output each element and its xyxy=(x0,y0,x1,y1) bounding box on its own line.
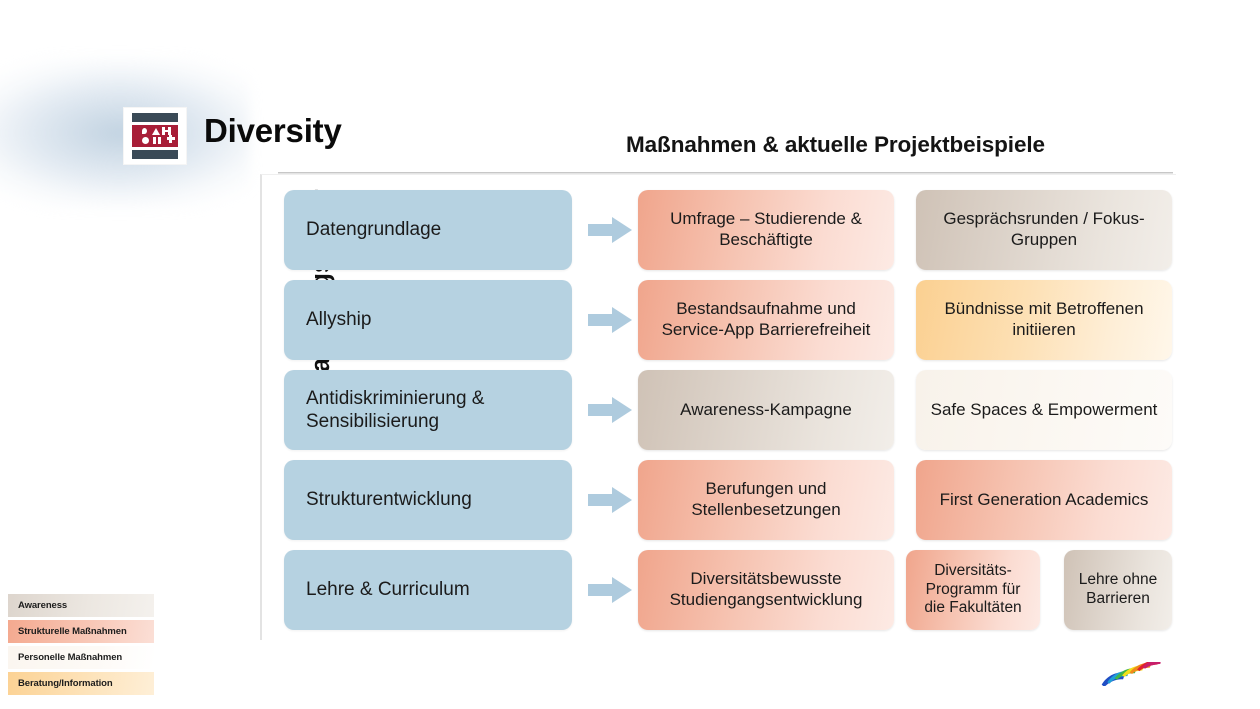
header-divider xyxy=(278,172,1173,174)
logo-emblem xyxy=(132,125,178,147)
field-box-label: Datengrundlage xyxy=(306,218,550,241)
legend: Awareness Strukturelle Maßnahmen Persone… xyxy=(8,594,154,698)
measure-box-label: Berufungen und Stellenbesetzungen xyxy=(652,479,880,520)
measure-box[interactable]: Berufungen und Stellenbesetzungen xyxy=(638,460,894,540)
measure-box-label: Diversitäts-Programm für die Fakultäten xyxy=(914,562,1032,619)
measure-box[interactable]: Diversitätsbewusste Studiengangsentwickl… xyxy=(638,550,894,630)
field-box-label: Allyship xyxy=(306,308,550,331)
field-box[interactable]: Datengrundlage xyxy=(284,190,572,270)
measure-box[interactable]: Umfrage – Studierende & Beschäftigte xyxy=(638,190,894,270)
slide-canvas: Diversity Maßnahmen & aktuelle Projektbe… xyxy=(0,0,1260,709)
logo-right-bar xyxy=(171,125,178,147)
logo-bar-top xyxy=(132,113,178,122)
field-box[interactable]: Strukturentwicklung xyxy=(284,460,572,540)
field-box[interactable]: Antidiskriminierung & Sensibilisierung xyxy=(284,370,572,450)
measure-box-label: Bestandsaufnahme und Service-App Barrier… xyxy=(652,299,880,340)
field-box-label: Strukturentwicklung xyxy=(306,488,550,511)
page-subtitle: Maßnahmen & aktuelle Projektbeispiele xyxy=(626,132,1045,158)
measure-box[interactable]: Bündnisse mit Betroffenen initiieren xyxy=(916,280,1172,360)
legend-item-structural: Strukturelle Maßnahmen xyxy=(8,620,154,643)
field-box[interactable]: Lehre & Curriculum xyxy=(284,550,572,630)
flow-arrow-icon xyxy=(588,307,632,333)
field-box-label: Lehre & Curriculum xyxy=(306,578,550,601)
logo-left-bar xyxy=(132,125,139,147)
measure-box-label: Umfrage – Studierende & Beschäftigte xyxy=(652,209,880,250)
measure-box[interactable]: Bestandsaufnahme und Service-App Barrier… xyxy=(638,280,894,360)
flow-arrow-icon xyxy=(588,577,632,603)
measure-box-label: Awareness-Kampagne xyxy=(652,400,880,421)
measure-box-label: Lehre ohne Barrieren xyxy=(1072,571,1164,609)
measure-box-label: Diversitätsbewusste Studiengangsentwickl… xyxy=(652,569,880,610)
logo-glyph-field xyxy=(139,125,171,147)
field-box[interactable]: Allyship xyxy=(284,280,572,360)
measure-box[interactable]: First Generation Academics xyxy=(916,460,1172,540)
legend-item-personal: Personelle Maßnahmen xyxy=(8,646,154,669)
measure-box[interactable]: Lehre ohne Barrieren xyxy=(1064,550,1172,630)
flow-arrow-icon xyxy=(588,397,632,423)
measure-box[interactable]: Gesprächsrunden / Fokus-Gruppen xyxy=(916,190,1172,270)
flow-arrow-icon xyxy=(588,487,632,513)
measure-box[interactable]: Safe Spaces & Empowerment xyxy=(916,370,1172,450)
flow-arrow-icon xyxy=(588,217,632,243)
measure-box-label: Safe Spaces & Empowerment xyxy=(930,400,1158,421)
measure-box[interactable]: Awareness-Kampagne xyxy=(638,370,894,450)
logo-bar-bottom xyxy=(132,150,178,159)
measure-box[interactable]: Diversitäts-Programm für die Fakultäten xyxy=(906,550,1040,630)
legend-item-advice: Beratung/Information xyxy=(8,672,154,695)
measure-box-label: First Generation Academics xyxy=(930,490,1158,511)
measure-box-label: Gesprächsrunden / Fokus-Gruppen xyxy=(930,209,1158,250)
field-box-label: Antidiskriminierung & Sensibilisierung xyxy=(306,387,550,433)
rainbow-swoosh-icon xyxy=(1096,662,1168,686)
measure-box-label: Bündnisse mit Betroffenen initiieren xyxy=(930,299,1158,340)
legend-item-awareness: Awareness xyxy=(8,594,154,617)
hochschule-logo xyxy=(124,108,186,164)
